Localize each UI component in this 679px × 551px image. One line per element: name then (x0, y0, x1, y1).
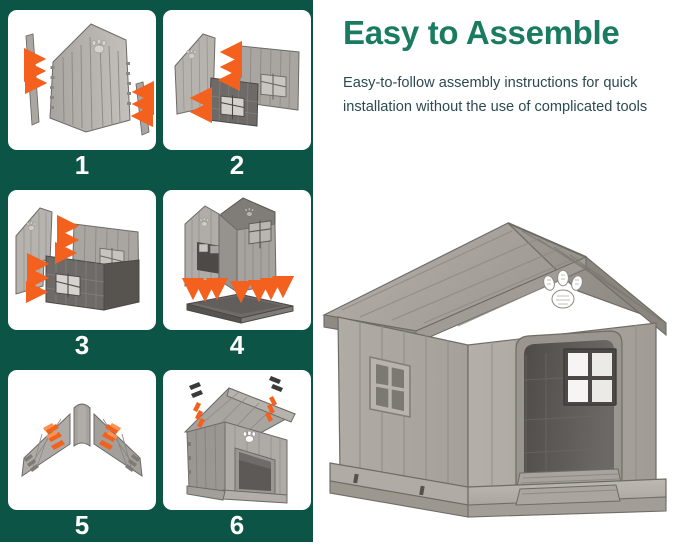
product-image-dog-house (316, 205, 679, 542)
lower-front-wall (209, 78, 258, 126)
step-card-5 (8, 370, 156, 510)
step-3-illustration (8, 190, 156, 330)
doorway (516, 331, 622, 491)
step-card-3 (8, 190, 156, 330)
step-number-6: 6 (163, 508, 311, 542)
step-1-illustration (8, 10, 156, 150)
copy-block: Easy to Assemble Easy-to-follow assembly… (343, 13, 668, 119)
step-4-illustration (163, 190, 311, 330)
step-cell-1: 1 (8, 10, 156, 191)
step-number-4: 4 (163, 328, 311, 362)
step-5-illustration (8, 370, 156, 510)
roof-ridge-cap (74, 404, 90, 446)
side-window (370, 357, 410, 417)
side-rail-left (26, 34, 39, 125)
front-gable-panel (50, 24, 131, 132)
page-title: Easy to Assemble (343, 13, 668, 53)
step-cell-4: 4 (163, 190, 311, 371)
product-feature-graphic: 1 (0, 0, 679, 542)
step-number-2: 2 (163, 148, 311, 182)
step-number-5: 5 (8, 508, 156, 542)
assembly-steps-grid: 1 (0, 0, 313, 542)
step-2-illustration (163, 10, 311, 150)
step-cell-6: 6 (163, 370, 311, 551)
page-subtitle: Easy-to-follow assembly instructions for… (343, 71, 668, 119)
assembled-walls (185, 198, 276, 292)
step-cell-3: 3 (8, 190, 156, 371)
dog-house-illustration (316, 205, 679, 542)
roof-panel-left (22, 414, 70, 476)
step-6-illustration (163, 370, 311, 510)
front-gable-wall (175, 34, 215, 114)
side-rail-right (136, 82, 149, 135)
lower-wall-and-floor-frame (46, 256, 139, 310)
step-card-4 (163, 190, 311, 330)
step-cell-5: 5 (8, 370, 156, 551)
paw-print-icon (542, 270, 584, 308)
step-card-2 (163, 10, 311, 150)
front-window (564, 349, 616, 405)
side-wall-left (187, 422, 225, 494)
assembly-steps-panel: 1 (0, 0, 313, 542)
step-card-1 (8, 10, 156, 150)
step-number-3: 3 (8, 328, 156, 362)
step-cell-2: 2 (163, 10, 311, 191)
step-card-6 (163, 370, 311, 510)
step-number-1: 1 (8, 148, 156, 182)
roof-panel-right (94, 414, 142, 476)
